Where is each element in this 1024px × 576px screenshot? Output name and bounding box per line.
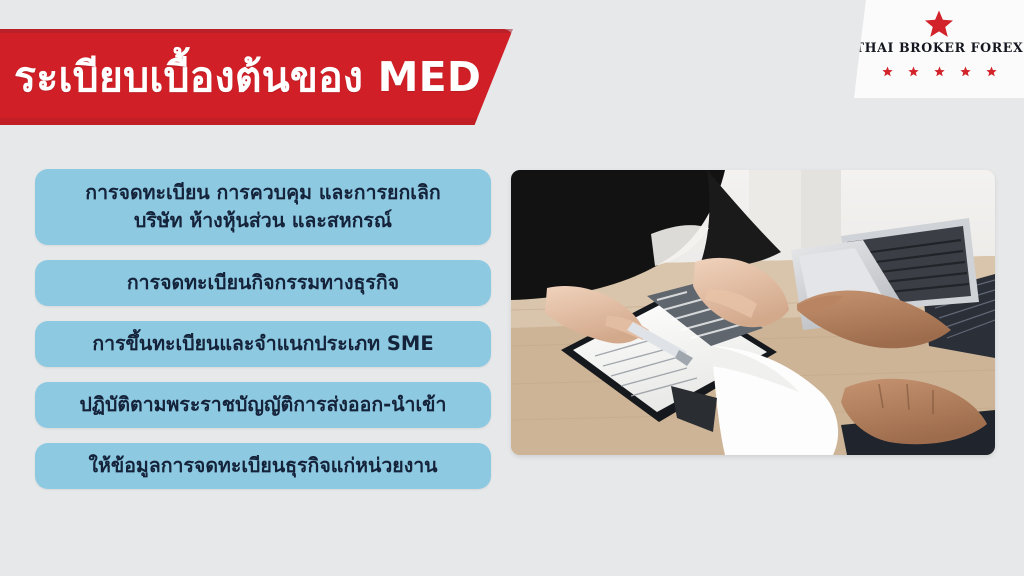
list-item: ให้ข้อมูลการจดทะเบียนธุรกิจแก่หน่วยงาน [35,443,491,489]
brand-logo-badge: THAI BROKER FOREX [854,0,1024,98]
star-icon [986,62,997,73]
title-banner: ระเบียบเบื้องต้นของ MED [0,29,513,125]
star-icon [934,62,945,73]
star-icon [908,62,919,73]
list-item: ปฏิบัติตามพระราชบัญญัติการส่งออก-นำเข้า [35,382,491,428]
bullet-text-1: การจดทะเบียน การควบคุม และการยกเลิก บริษ… [85,179,440,234]
page-title: ระเบียบเบื้องต้นของ MED [14,29,484,125]
slide-root: ระเบียบเบื้องต้นของ MED THAI BROKER FORE… [0,0,1024,576]
list-item: การขึ้นทะเบียนและจำแนกประเภท SME [35,321,491,367]
star-icon [960,62,971,73]
star-icon [924,9,954,39]
bullet-text-5: ให้ข้อมูลการจดทะเบียนธุรกิจแก่หน่วยงาน [88,452,437,480]
bullet-text-3: การขึ้นทะเบียนและจำแนกประเภท SME [92,330,433,358]
bullet-list: การจดทะเบียน การควบคุม และการยกเลิก บริษ… [35,169,491,504]
bullet-line-1: การจดทะเบียน การควบคุม และการยกเลิก [85,181,440,204]
list-item: การจดทะเบียนกิจกรรมทางธุรกิจ [35,260,491,306]
bullet-line-2: บริษัท ห้างหุ้นส่วน และสหกรณ์ [85,207,440,235]
star-icon [882,62,893,73]
photo-business-meeting [511,170,995,455]
bullet-text-2: การจดทะเบียนกิจกรรมทางธุรกิจ [127,269,399,297]
brand-star-rating [882,62,997,73]
brand-logo-inner: THAI BROKER FOREX [854,0,1024,98]
list-item: การจดทะเบียน การควบคุม และการยกเลิก บริษ… [35,169,491,245]
brand-name: THAI BROKER FOREX [855,40,1024,55]
bullet-text-4: ปฏิบัติตามพระราชบัญญัติการส่งออก-นำเข้า [80,391,447,419]
